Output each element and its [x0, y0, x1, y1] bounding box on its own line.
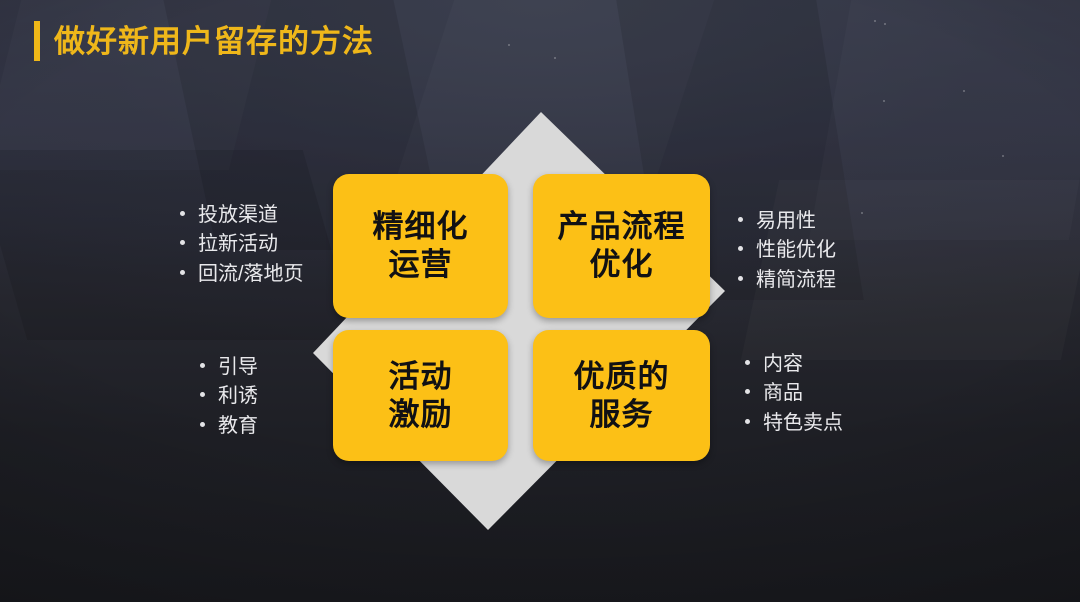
bullet-dot-icon — [738, 217, 743, 222]
bullet-dot-icon — [738, 276, 743, 281]
card-bottom-right[interactable]: 优质的 服务 — [533, 330, 710, 461]
bullet-dot-icon — [200, 422, 205, 427]
bg-speck — [884, 23, 886, 25]
bullet-list-top-right: 易用性性能优化精简流程 — [738, 207, 836, 295]
bullet-label: 内容 — [763, 350, 803, 379]
card-line-2: 优化 — [590, 246, 654, 284]
bullet-item: 拉新活动 — [180, 230, 304, 259]
bullet-label: 商品 — [763, 379, 803, 408]
bullet-label: 引导 — [218, 353, 258, 382]
bullet-label: 拉新活动 — [198, 230, 278, 259]
bullet-label: 易用性 — [756, 207, 816, 236]
bg-speck — [554, 57, 556, 59]
title-accent-bar — [34, 21, 40, 61]
card-top-left[interactable]: 精细化 运营 — [333, 174, 508, 318]
bg-speck — [883, 100, 885, 102]
bullet-dot-icon — [200, 363, 205, 368]
bullet-item: 特色卖点 — [745, 409, 843, 438]
bullet-label: 回流/落地页 — [198, 260, 304, 289]
card-line-1: 优质的 — [574, 358, 670, 396]
bullet-label: 精简流程 — [756, 266, 836, 295]
bullet-list-bottom-right: 内容商品特色卖点 — [745, 350, 843, 438]
card-line-1: 产品流程 — [558, 208, 686, 246]
bullet-item: 商品 — [745, 379, 843, 408]
bullet-dot-icon — [200, 392, 205, 397]
bullet-label: 教育 — [218, 412, 258, 441]
bullet-item: 利诱 — [200, 382, 258, 411]
bullet-item: 性能优化 — [738, 236, 836, 265]
bullet-label: 特色卖点 — [763, 409, 843, 438]
bullet-label: 投放渠道 — [198, 201, 278, 230]
bullet-dot-icon — [738, 246, 743, 251]
bullet-dot-icon — [745, 419, 750, 424]
title-text: 做好新用户留存的方法 — [54, 26, 374, 57]
card-line-1: 活动 — [389, 358, 453, 396]
bullet-dot-icon — [745, 389, 750, 394]
bullet-dot-icon — [180, 211, 185, 216]
bullet-item: 教育 — [200, 412, 258, 441]
bullet-item: 内容 — [745, 350, 843, 379]
bg-speck — [508, 44, 510, 46]
bg-facet — [0, 150, 357, 340]
diamond-shape — [305, 105, 735, 535]
bullet-dot-icon — [745, 360, 750, 365]
bg-speck — [861, 212, 863, 214]
bullet-item: 精简流程 — [738, 266, 836, 295]
bullet-item: 引导 — [200, 353, 258, 382]
card-line-1: 精细化 — [373, 208, 469, 246]
bullet-item: 回流/落地页 — [180, 260, 304, 289]
bullet-item: 投放渠道 — [180, 201, 304, 230]
bullet-dot-icon — [180, 240, 185, 245]
card-bottom-left[interactable]: 活动 激励 — [333, 330, 508, 461]
bullet-dot-icon — [180, 270, 185, 275]
page-title: 做好新用户留存的方法 — [34, 21, 374, 61]
card-line-2: 运营 — [389, 246, 453, 284]
bullet-label: 利诱 — [218, 382, 258, 411]
bullet-item: 易用性 — [738, 207, 836, 236]
card-line-2: 激励 — [389, 396, 453, 434]
bullet-list-bottom-left: 引导利诱教育 — [200, 353, 258, 441]
bullet-label: 性能优化 — [756, 236, 836, 265]
card-line-2: 服务 — [590, 396, 654, 434]
slide-canvas: 做好新用户留存的方法 精细化 运营 产品流程 优化 活动 激励 优质的 服务 投… — [0, 0, 1080, 602]
bg-speck — [874, 20, 876, 22]
bullet-list-top-left: 投放渠道拉新活动回流/落地页 — [180, 201, 304, 289]
card-top-right[interactable]: 产品流程 优化 — [533, 174, 710, 318]
bg-speck — [1002, 155, 1004, 157]
bg-speck — [963, 90, 965, 92]
